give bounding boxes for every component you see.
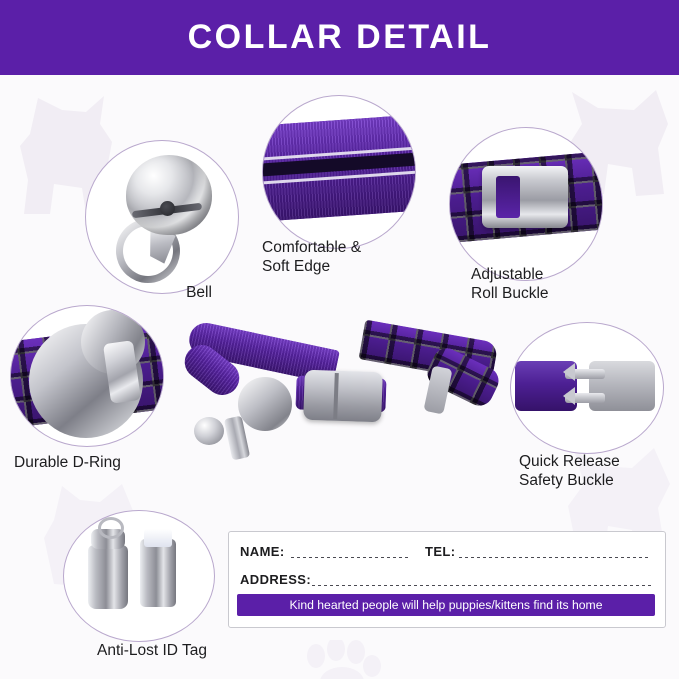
- caption-roll-buckle: Adjustable Roll Buckle: [471, 265, 631, 303]
- bell-callout-circle: [85, 140, 239, 294]
- collar-buckle: [303, 370, 383, 423]
- name-write-line: [291, 557, 411, 558]
- bell-hole-icon: [160, 201, 175, 216]
- id-tag-callout-circle: [63, 510, 215, 642]
- caption-bell: Bell: [139, 283, 259, 302]
- id-tag-screw-cap-icon: [140, 539, 176, 607]
- d-ring-callout-circle: [10, 305, 164, 447]
- id-card: NAME: TEL: ADDRESS: Kind hearted people …: [228, 531, 666, 628]
- tel-write-line: [459, 557, 651, 558]
- quick-release-arrow-icon: [563, 387, 575, 405]
- collar-d-ring: [238, 377, 292, 431]
- name-label: NAME:: [240, 544, 285, 559]
- product-infographic: COLLAR DETAIL Bell Comfortable & Soft Ed…: [0, 0, 679, 679]
- roll-buckle-icon: [482, 166, 568, 228]
- id-tag-ring-icon: [98, 517, 124, 539]
- roll-buckle-slot: [496, 176, 520, 218]
- id-card-banner: Kind hearted people will help puppies/ki…: [237, 594, 655, 616]
- paw-watermark: [300, 640, 390, 679]
- soft-edge-callout-circle: [262, 95, 416, 249]
- id-tag-paper-icon: [144, 529, 172, 547]
- roll-buckle-callout-circle: [449, 127, 603, 281]
- caption-soft-edge: Comfortable & Soft Edge: [262, 238, 432, 276]
- id-tag-capsule-body-icon: [88, 545, 128, 609]
- collar-product-image: [176, 305, 496, 455]
- page-title: COLLAR DETAIL: [188, 18, 492, 57]
- collar-bell: [194, 417, 224, 445]
- quick-release-arrow-icon: [563, 363, 575, 381]
- caption-quick-release: Quick Release Safety Buckle: [519, 452, 679, 490]
- bell-icon: [126, 155, 212, 235]
- tel-label: TEL:: [425, 544, 455, 559]
- id-card-banner-text: Kind hearted people will help puppies/ki…: [289, 598, 602, 612]
- quick-release-callout-circle: [510, 322, 664, 454]
- address-label: ADDRESS:: [240, 572, 311, 587]
- address-write-line: [312, 585, 651, 586]
- header-banner: COLLAR DETAIL: [0, 0, 679, 75]
- caption-id-tag: Anti-Lost ID Tag: [62, 641, 242, 660]
- caption-d-ring: Durable D-Ring: [14, 453, 194, 472]
